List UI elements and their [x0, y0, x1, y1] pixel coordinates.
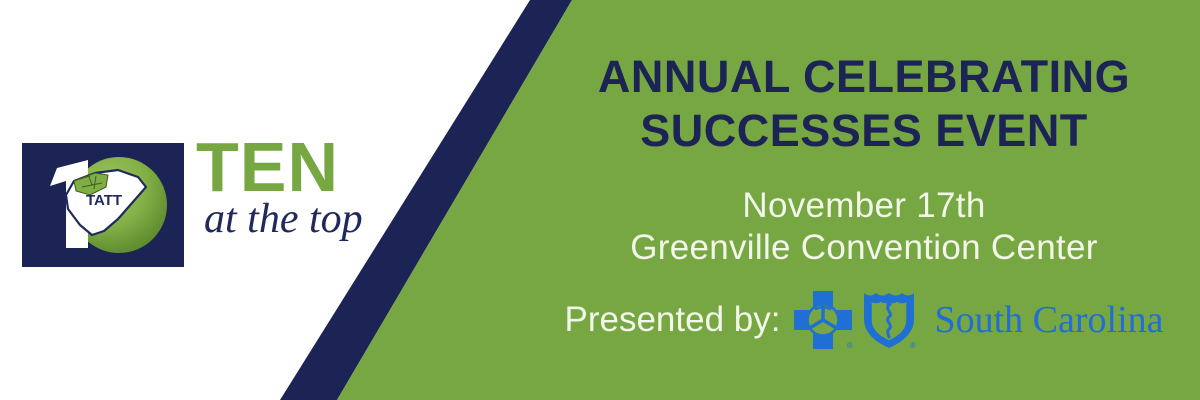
event-date: November 17th — [540, 185, 1188, 227]
blue-shield-icon: ® — [860, 289, 918, 351]
bcbs-logo-group: ® ® — [792, 289, 918, 351]
event-venue: Greenville Convention Center — [540, 227, 1188, 269]
presented-by-label: Presented by: — [564, 300, 780, 340]
headline-line-2: SUCCESSES EVENT — [540, 104, 1188, 158]
logo-wordmark: TEN at the top — [196, 132, 396, 267]
wordmark-ten-text: TEN — [196, 132, 339, 202]
event-details: November 17th Greenville Convention Cent… — [540, 185, 1188, 269]
ten-at-the-top-logo-mark: TATT — [22, 143, 184, 267]
svg-text:®: ® — [847, 341, 853, 350]
logo-tatt-label: TATT — [86, 192, 122, 209]
blue-cross-icon: ® — [792, 289, 854, 351]
event-headline: ANNUAL CELEBRATING SUCCESSES EVENT — [540, 50, 1188, 158]
wordmark-tagline-text: at the top — [204, 194, 363, 244]
svg-text:®: ® — [910, 341, 916, 350]
headline-line-1: ANNUAL CELEBRATING — [540, 50, 1188, 104]
event-banner: TATT TEN at the top ANNUAL CELEBRATING S… — [0, 0, 1200, 400]
sponsor-row: Presented by: ® ® South Carolina — [540, 287, 1188, 353]
logo-artwork: TATT — [22, 143, 184, 267]
sponsor-brand-name: South Carolina — [934, 299, 1163, 341]
